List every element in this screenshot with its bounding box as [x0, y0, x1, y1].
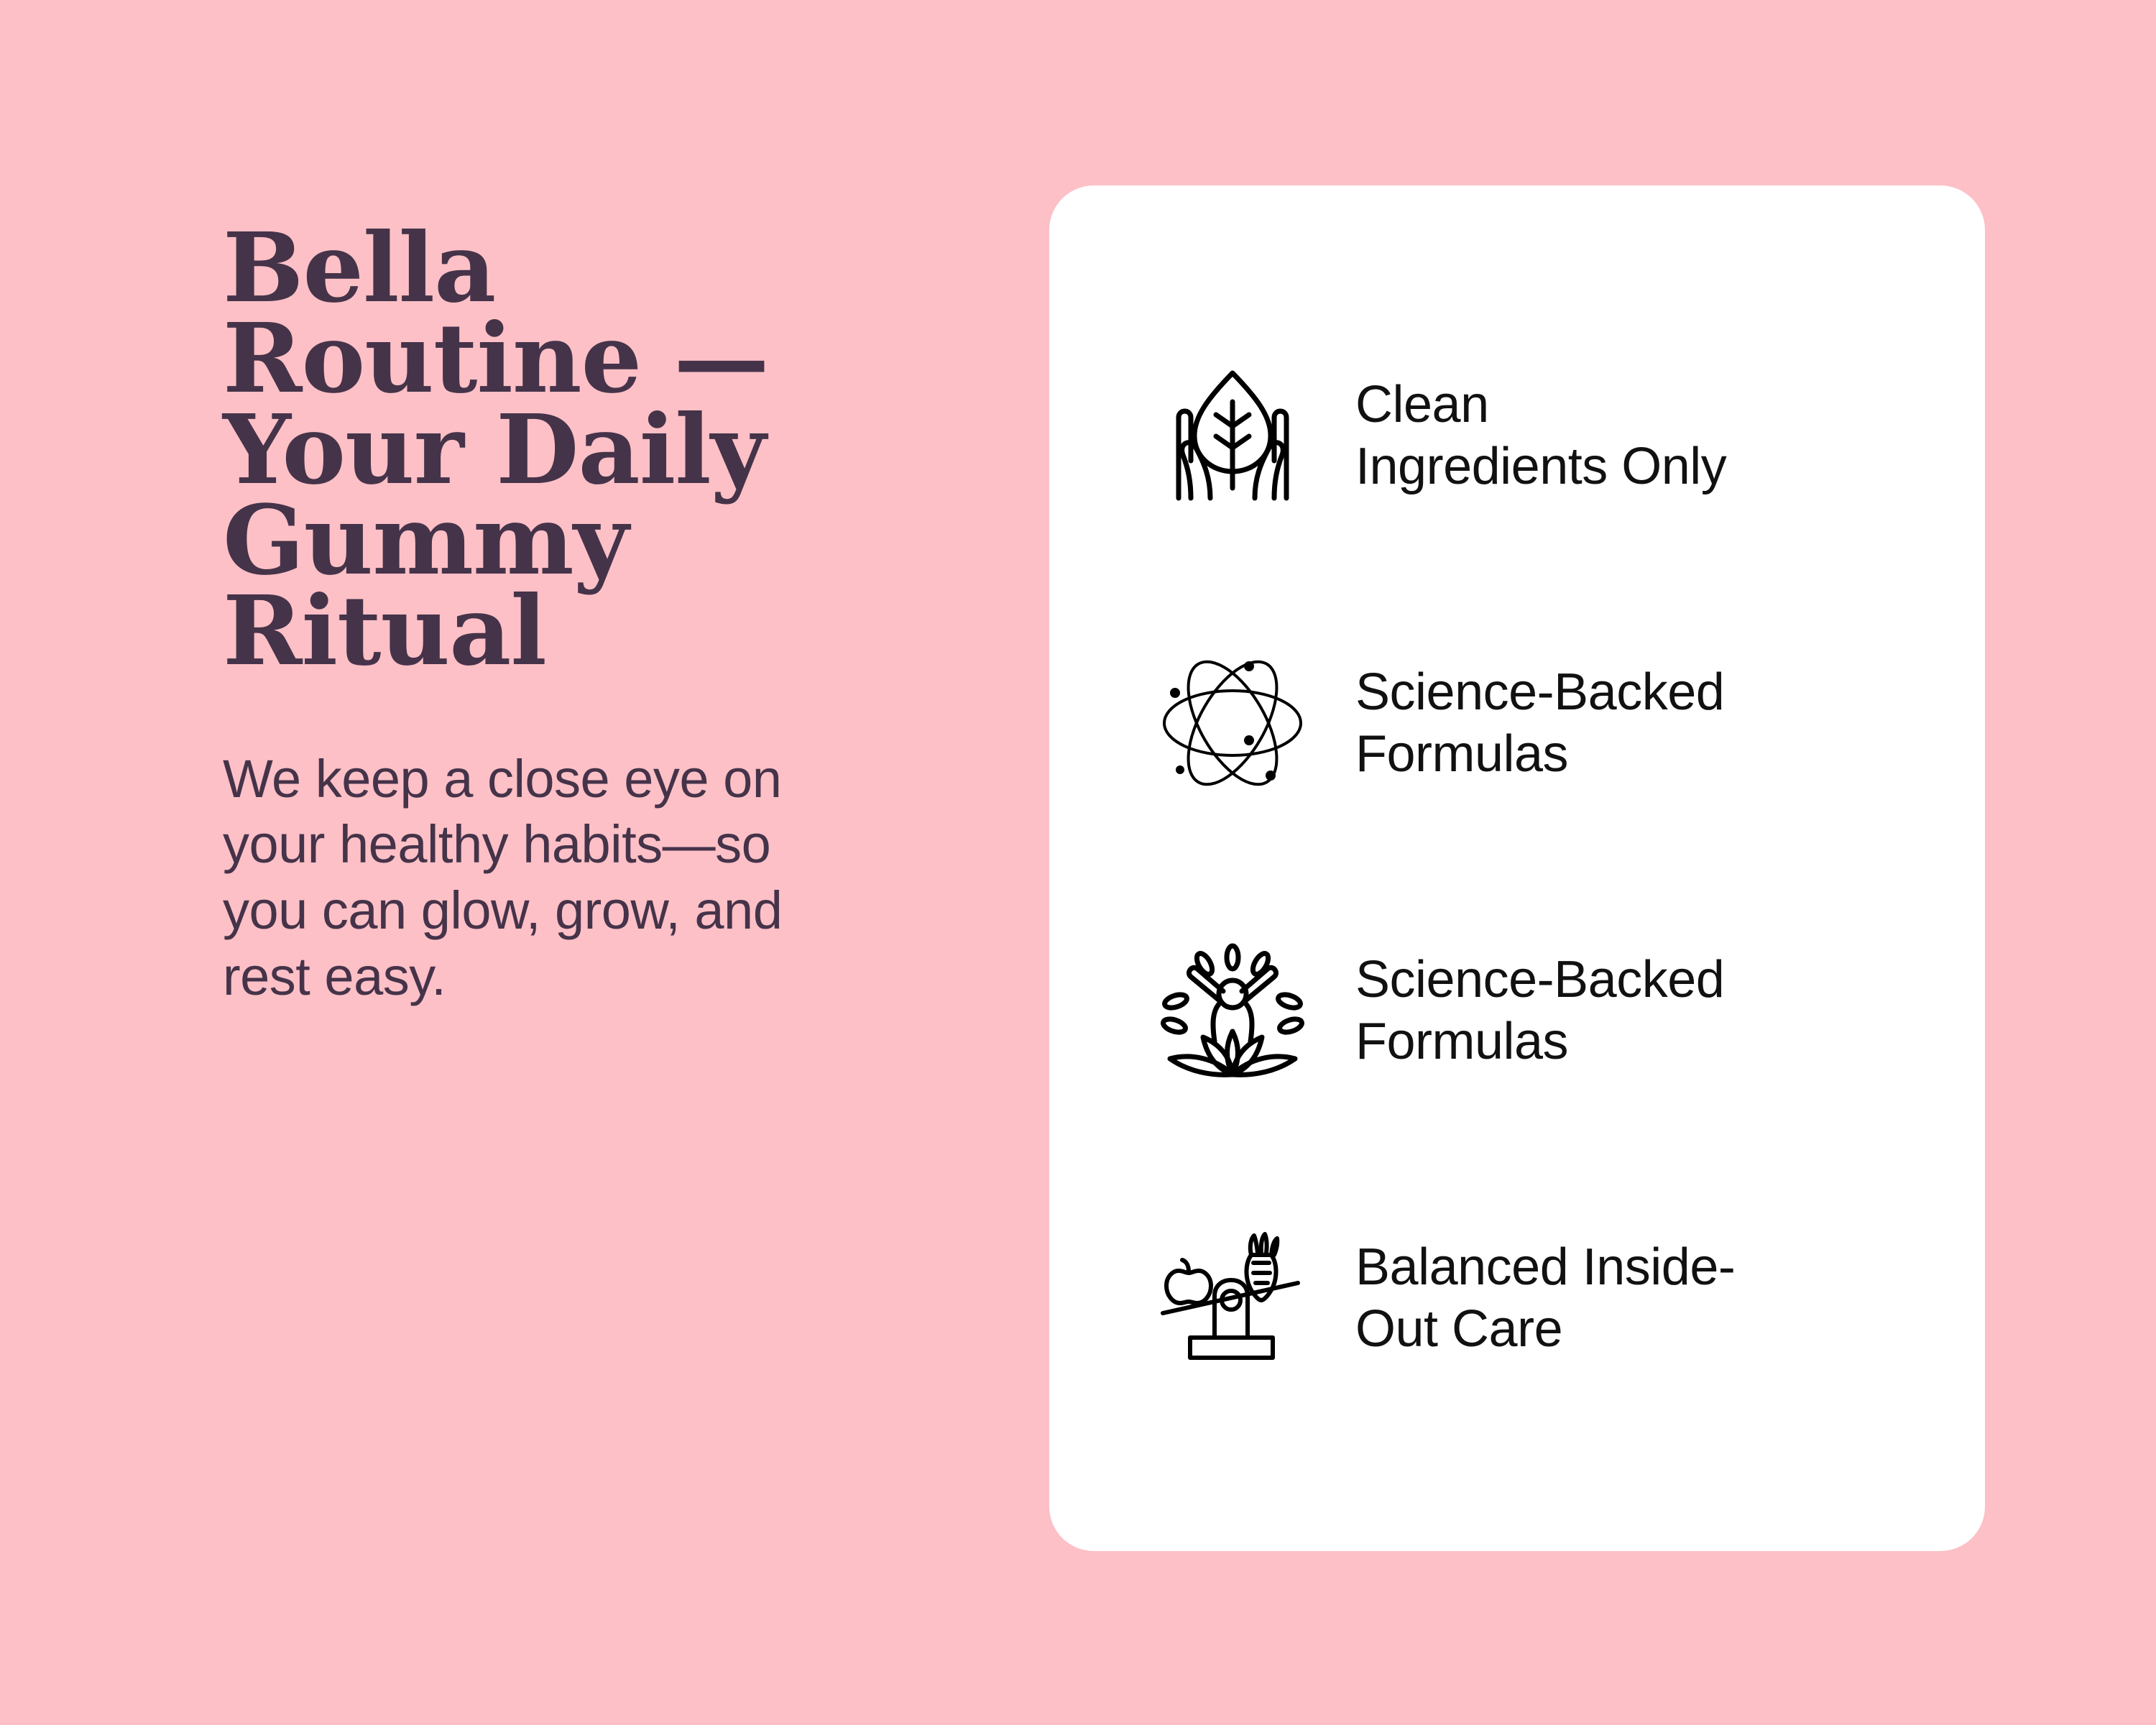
- list-item-label: Science-Backed Formulas: [1355, 949, 1724, 1073]
- hero-subcopy: We keep a close eye on your healthy habi…: [223, 746, 798, 1010]
- list-item: Balanced Inside- Out Care: [1157, 1154, 1920, 1442]
- features-card: Clean Ingredients Only Sci: [1049, 185, 1985, 1551]
- list-item-label: Clean Ingredients Only: [1355, 374, 1726, 498]
- balance-scale-food-icon: [1157, 1223, 1308, 1374]
- list-item: Science-Backed Formulas: [1157, 579, 1920, 867]
- hero-text-column: Bella Routine — Your Daily Gummy Ritual …: [223, 223, 884, 1010]
- list-item-label: Science-Backed Formulas: [1355, 661, 1724, 786]
- hands-holding-leaf-icon: [1157, 360, 1308, 511]
- page-title: Bella Routine — Your Daily Gummy Ritual: [223, 223, 884, 677]
- list-item: Clean Ingredients Only: [1157, 292, 1920, 579]
- list-item-label: Balanced Inside- Out Care: [1355, 1236, 1735, 1361]
- promo-poster: Bella Routine — Your Daily Gummy Ritual …: [0, 0, 2156, 1725]
- lotus-meditation-icon: [1157, 935, 1308, 1086]
- feature-list: Clean Ingredients Only Sci: [1157, 292, 1920, 1442]
- atom-icon: [1157, 648, 1308, 799]
- list-item: Science-Backed Formulas: [1157, 867, 1920, 1154]
